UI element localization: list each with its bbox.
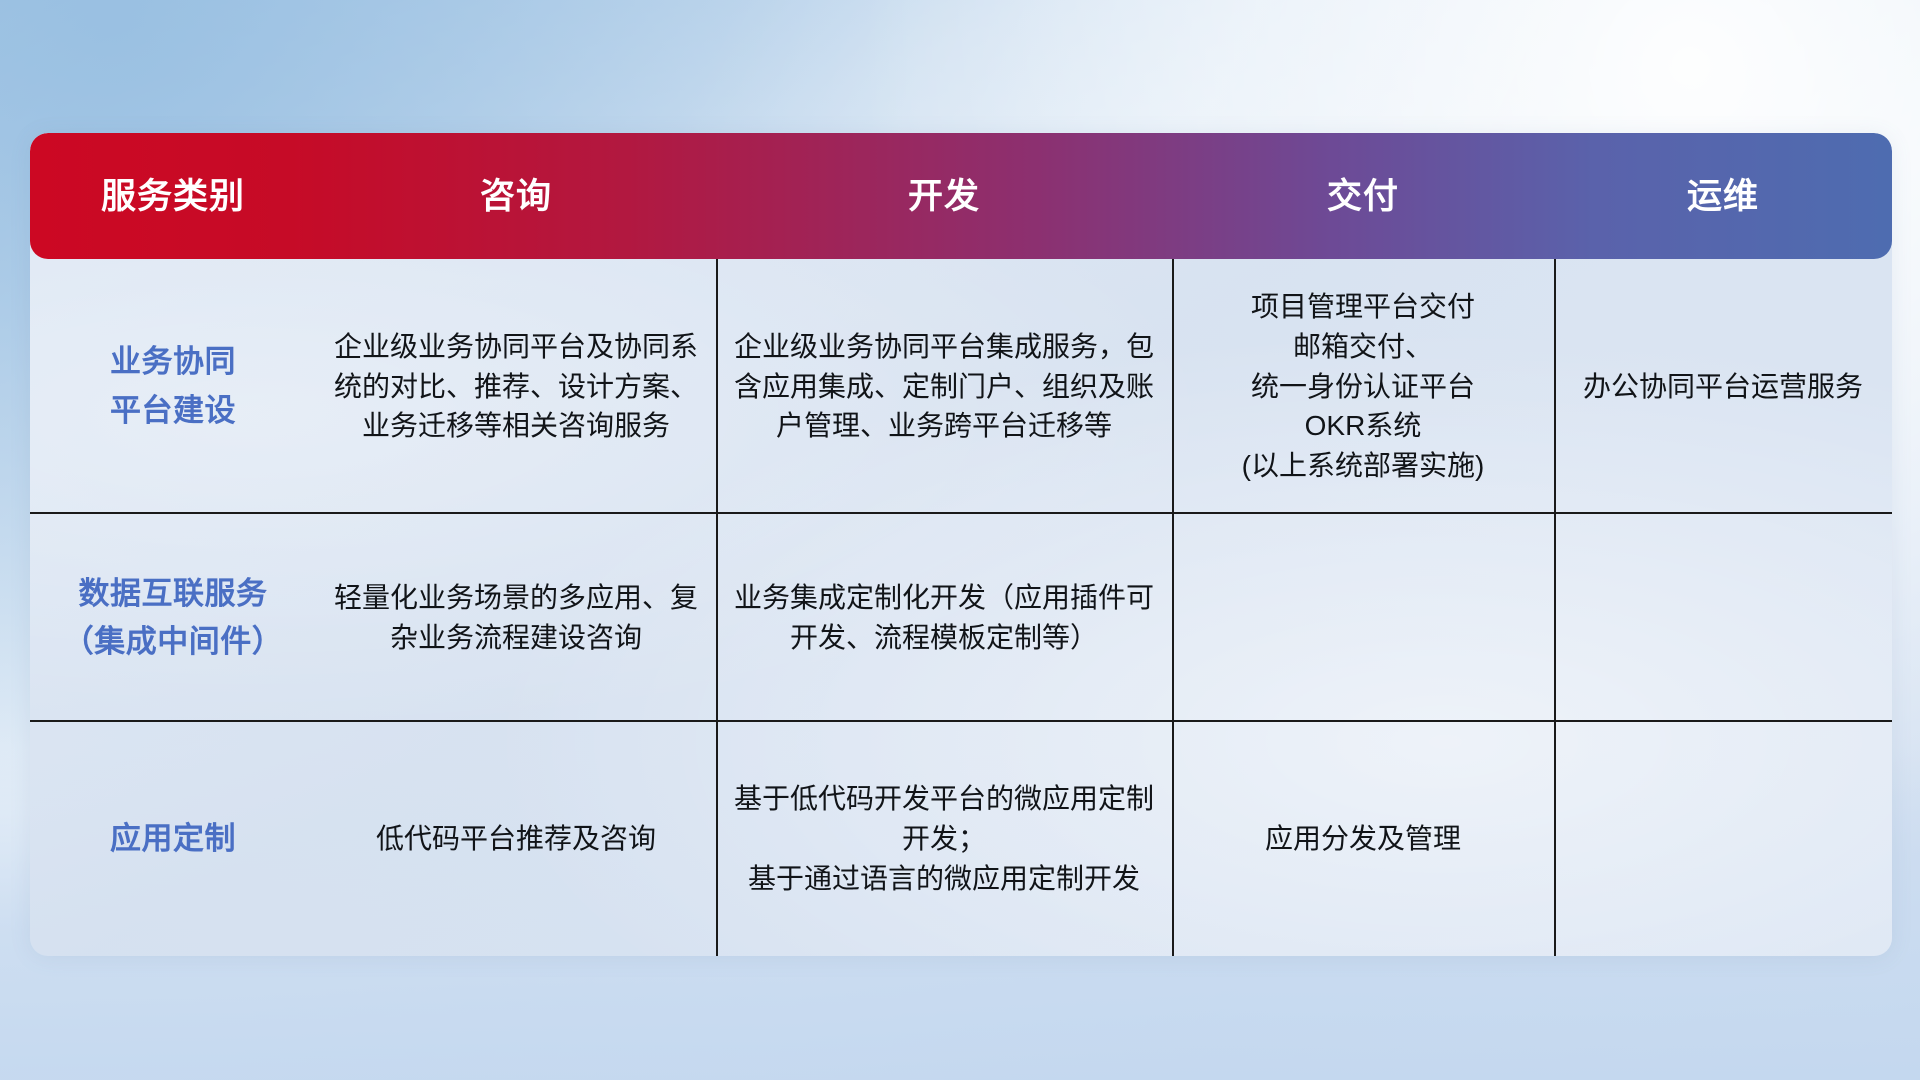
row-divider-2 [30, 720, 1892, 722]
row-consulting-cell: 企业级业务协同平台及协同系统的对比、推荐、设计方案、业务迁移等相关咨询服务 [316, 259, 716, 514]
row-development-cell: 基于低代码开发平台的微应用定制开发；基于通过语言的微应用定制开发 [716, 722, 1172, 956]
table-row: 业务协同平台建设 企业级业务协同平台及协同系统的对比、推荐、设计方案、业务迁移等… [30, 259, 1892, 514]
table-header-consulting: 咨询 [316, 179, 716, 214]
row-category-label: 数据互联服务（集成中间件） [30, 514, 316, 722]
column-divider-2 [1172, 259, 1174, 956]
column-divider-3 [1554, 259, 1556, 956]
table-header-operations: 运维 [1554, 179, 1892, 214]
column-divider-1 [716, 259, 718, 956]
row-category-label: 应用定制 [30, 722, 316, 956]
row-category-label: 业务协同平台建设 [30, 259, 316, 514]
row-operations-cell: 办公协同平台运营服务 [1554, 259, 1892, 514]
row-operations-cell [1554, 722, 1892, 956]
table-header-delivery: 交付 [1172, 179, 1554, 214]
table-row: 应用定制 低代码平台推荐及咨询 基于低代码开发平台的微应用定制开发；基于通过语言… [30, 722, 1892, 956]
table-body: 业务协同平台建设 企业级业务协同平台及协同系统的对比、推荐、设计方案、业务迁移等… [30, 259, 1892, 956]
row-delivery-cell: 应用分发及管理 [1172, 722, 1554, 956]
row-operations-cell [1554, 514, 1892, 722]
table-header-service-category: 服务类别 [30, 179, 316, 214]
row-development-cell: 业务集成定制化开发（应用插件可开发、流程模板定制等） [716, 514, 1172, 722]
row-divider-1 [30, 512, 1892, 514]
row-delivery-cell: 项目管理平台交付邮箱交付、统一身份认证平台OKR系统(以上系统部署实施) [1172, 259, 1554, 514]
row-consulting-cell: 低代码平台推荐及咨询 [316, 722, 716, 956]
table-header-development: 开发 [716, 179, 1172, 214]
row-development-cell: 企业级业务协同平台集成服务，包含应用集成、定制门户、组织及账户管理、业务跨平台迁… [716, 259, 1172, 514]
row-consulting-cell: 轻量化业务场景的多应用、复杂业务流程建设咨询 [316, 514, 716, 722]
service-matrix-table: 服务类别 咨询 开发 交付 运维 业务协同平台建设 企业级业务协同平台及协同系统… [30, 133, 1892, 956]
row-delivery-cell [1172, 514, 1554, 722]
table-header-row: 服务类别 咨询 开发 交付 运维 [30, 133, 1892, 259]
table-row: 数据互联服务（集成中间件） 轻量化业务场景的多应用、复杂业务流程建设咨询 业务集… [30, 514, 1892, 722]
